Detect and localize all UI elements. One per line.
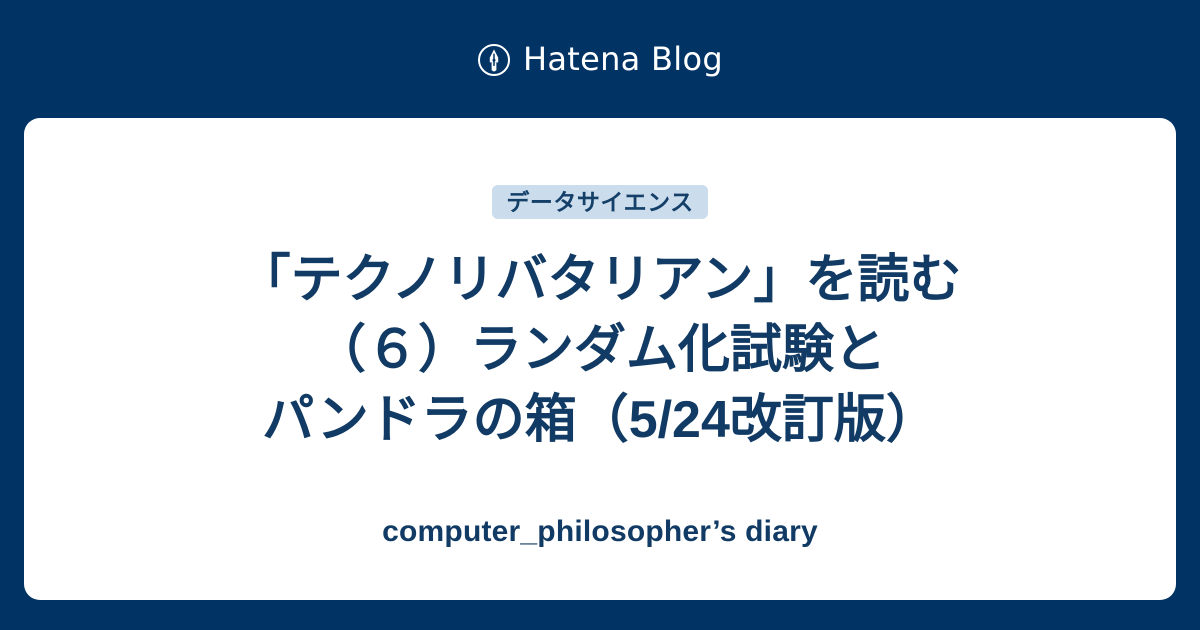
entry-card-inner: データサイエンス 「テクノリバタリアン」を読む （６）ランダム化試験と パンドラ… [24, 118, 1176, 600]
entry-title-line-2: （６）ランダム化試験と [100, 315, 1100, 385]
brand-name: Hatena Blog [523, 43, 723, 75]
category-tag-row: データサイエンス [492, 185, 707, 219]
fountain-pen-nib-icon [477, 43, 511, 77]
brand-bar: Hatena Blog [0, 0, 1200, 118]
category-tag[interactable]: データサイエンス [492, 185, 707, 219]
hatena-blog-ogp-card: Hatena Blog データサイエンス 「テクノリバタリアン」を読む （６）ラ… [0, 0, 1200, 630]
entry-title-line-1: 「テクノリバタリアン」を読む [100, 245, 1100, 315]
entry-title-line-3: パンドラの箱（5/24改訂版） [100, 385, 1100, 455]
entry-title: 「テクノリバタリアン」を読む （６）ランダム化試験と パンドラの箱（5/24改訂… [100, 245, 1100, 455]
entry-card: データサイエンス 「テクノリバタリアン」を読む （６）ランダム化試験と パンドラ… [24, 118, 1176, 600]
blog-name[interactable]: computer_philosopher’s diary [24, 514, 1176, 550]
